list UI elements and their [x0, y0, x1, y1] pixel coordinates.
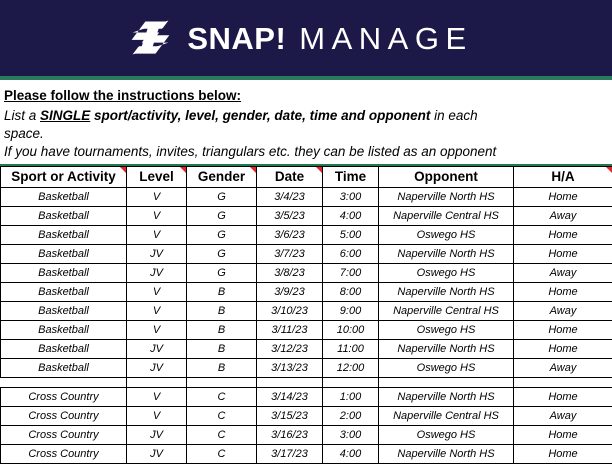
- app-header-banner: SNAP! MANAGE: [0, 0, 612, 76]
- comment-marker-icon: [250, 167, 256, 173]
- table-cell-h-a[interactable]: Away: [514, 406, 612, 425]
- table-cell-gender[interactable]: C: [187, 444, 257, 463]
- table-cell-sport-or-activity[interactable]: Basketball: [1, 320, 127, 339]
- table-cell-sport-or-activity[interactable]: Basketball: [1, 263, 127, 282]
- table-cell-time[interactable]: 2:00: [323, 406, 379, 425]
- table-cell-h-a[interactable]: Home: [514, 339, 612, 358]
- table-cell-gender[interactable]: G: [187, 244, 257, 263]
- table-cell-level[interactable]: V: [127, 225, 187, 244]
- column-header-ha-label: H/A: [551, 169, 574, 184]
- table-cell-h-a[interactable]: Home: [514, 187, 612, 206]
- table-cell-time[interactable]: 12:00: [323, 358, 379, 377]
- column-header-sport[interactable]: Sport or Activity: [1, 166, 127, 187]
- table-cell-sport-or-activity[interactable]: Cross Country: [1, 406, 127, 425]
- table-cell-opponent[interactable]: Naperville Central HS: [379, 406, 514, 425]
- table-cell-gender[interactable]: G: [187, 263, 257, 282]
- table-cell-gender[interactable]: B: [187, 358, 257, 377]
- table-spacer-cell: [514, 377, 612, 387]
- schedule-table-body: BasketballVG3/4/233:00Naperville North H…: [1, 187, 612, 463]
- table-spacer-cell: [257, 377, 323, 387]
- instructions-block: Please follow the instructions below: Li…: [0, 80, 612, 162]
- table-cell-time[interactable]: 10:00: [323, 320, 379, 339]
- schedule-table: Sport or Activity Level Gender Date Time…: [0, 166, 612, 464]
- table-cell-opponent[interactable]: Oswego HS: [379, 225, 514, 244]
- table-cell-opponent[interactable]: Naperville North HS: [379, 187, 514, 206]
- column-header-opponent[interactable]: Opponent: [379, 166, 514, 187]
- table-cell-date[interactable]: 3/16/23: [257, 425, 323, 444]
- table-cell-time[interactable]: 8:00: [323, 282, 379, 301]
- table-cell-level[interactable]: V: [127, 406, 187, 425]
- table-cell-date[interactable]: 3/13/23: [257, 358, 323, 377]
- column-header-gender[interactable]: Gender: [187, 166, 257, 187]
- table-cell-sport-or-activity[interactable]: Basketball: [1, 206, 127, 225]
- table-cell-date[interactable]: 3/10/23: [257, 301, 323, 320]
- table-cell-time[interactable]: 11:00: [323, 339, 379, 358]
- table-cell-level[interactable]: V: [127, 206, 187, 225]
- table-cell-date[interactable]: 3/15/23: [257, 406, 323, 425]
- table-cell-h-a[interactable]: Away: [514, 301, 612, 320]
- brand-wordmark: SNAP! MANAGE: [187, 23, 472, 54]
- table-cell-date[interactable]: 3/14/23: [257, 387, 323, 406]
- table-spacer-cell: [1, 377, 127, 387]
- table-cell-opponent[interactable]: Naperville North HS: [379, 339, 514, 358]
- column-header-date-label: Date: [275, 169, 304, 184]
- table-cell-date[interactable]: 3/5/23: [257, 206, 323, 225]
- brand-primary-text: SNAP!: [187, 23, 286, 54]
- instructions-line-2: space.: [4, 125, 608, 143]
- table-cell-level[interactable]: V: [127, 387, 187, 406]
- table-cell-opponent[interactable]: Naperville Central HS: [379, 206, 514, 225]
- table-cell-h-a[interactable]: Home: [514, 244, 612, 263]
- table-cell-time[interactable]: 3:00: [323, 425, 379, 444]
- table-cell-opponent[interactable]: Naperville North HS: [379, 387, 514, 406]
- table-cell-opponent[interactable]: Oswego HS: [379, 263, 514, 282]
- table-cell-gender[interactable]: B: [187, 320, 257, 339]
- instructions-line1-part-a: List a: [4, 108, 40, 123]
- table-cell-time[interactable]: 5:00: [323, 225, 379, 244]
- table-cell-level[interactable]: V: [127, 301, 187, 320]
- table-spacer-row: [1, 377, 612, 387]
- table-spacer-cell: [187, 377, 257, 387]
- table-cell-h-a[interactable]: Away: [514, 206, 612, 225]
- table-cell-date[interactable]: 3/4/23: [257, 187, 323, 206]
- instructions-line-1: List a SINGLE sport/activity, level, gen…: [4, 106, 608, 126]
- table-cell-gender[interactable]: G: [187, 225, 257, 244]
- table-cell-time[interactable]: 6:00: [323, 244, 379, 263]
- table-cell-sport-or-activity[interactable]: Basketball: [1, 301, 127, 320]
- table-cell-gender[interactable]: G: [187, 206, 257, 225]
- table-cell-level[interactable]: JV: [127, 339, 187, 358]
- table-cell-gender[interactable]: B: [187, 282, 257, 301]
- table-cell-sport-or-activity[interactable]: Cross Country: [1, 387, 127, 406]
- table-row[interactable]: Cross CountryJVC3/17/234:00Naperville No…: [1, 444, 612, 463]
- column-header-opponent-label: Opponent: [414, 169, 478, 184]
- table-cell-gender[interactable]: G: [187, 187, 257, 206]
- column-header-ha[interactable]: H/A: [514, 166, 612, 187]
- table-cell-time[interactable]: 3:00: [323, 187, 379, 206]
- table-cell-time[interactable]: 4:00: [323, 206, 379, 225]
- table-cell-opponent[interactable]: Oswego HS: [379, 320, 514, 339]
- table-cell-time[interactable]: 4:00: [323, 444, 379, 463]
- comment-marker-icon: [120, 167, 126, 173]
- column-header-level-label: Level: [139, 169, 174, 184]
- table-cell-date[interactable]: 3/7/23: [257, 244, 323, 263]
- column-header-time[interactable]: Time: [323, 166, 379, 187]
- instructions-line-3: If you have tournaments, invites, triang…: [4, 143, 608, 161]
- table-cell-sport-or-activity[interactable]: Basketball: [1, 187, 127, 206]
- table-cell-opponent[interactable]: Naperville North HS: [379, 244, 514, 263]
- column-header-sport-label: Sport or Activity: [11, 169, 116, 184]
- column-header-time-label: Time: [335, 169, 366, 184]
- table-row[interactable]: BasketballVB3/10/239:00Naperville Centra…: [1, 301, 612, 320]
- table-row[interactable]: BasketballJVG3/8/237:00Oswego HSAway: [1, 263, 612, 282]
- table-cell-h-a[interactable]: Home: [514, 225, 612, 244]
- table-cell-level[interactable]: JV: [127, 425, 187, 444]
- table-row[interactable]: BasketballJVB3/12/2311:00Naperville Nort…: [1, 339, 612, 358]
- table-spacer-cell: [379, 377, 514, 387]
- table-spacer-cell: [127, 377, 187, 387]
- table-cell-date[interactable]: 3/8/23: [257, 263, 323, 282]
- table-cell-date[interactable]: 3/9/23: [257, 282, 323, 301]
- table-cell-h-a[interactable]: Home: [514, 444, 612, 463]
- table-cell-h-a[interactable]: Away: [514, 263, 612, 282]
- instructions-line1-part-b: sport/activity, level, gender, date, tim…: [90, 108, 430, 123]
- table-row[interactable]: Cross CountryVC3/14/231:00Naperville Nor…: [1, 387, 612, 406]
- table-cell-date[interactable]: 3/11/23: [257, 320, 323, 339]
- table-cell-level[interactable]: V: [127, 187, 187, 206]
- table-cell-time[interactable]: 1:00: [323, 387, 379, 406]
- table-cell-level[interactable]: V: [127, 320, 187, 339]
- table-row[interactable]: Cross CountryJVC3/16/233:00Oswego HSHome: [1, 425, 612, 444]
- table-spacer-cell: [323, 377, 379, 387]
- comment-marker-icon: [316, 167, 322, 173]
- table-cell-opponent[interactable]: Naperville North HS: [379, 282, 514, 301]
- table-cell-h-a[interactable]: Home: [514, 282, 612, 301]
- instructions-line1-emphasis: SINGLE: [40, 108, 90, 123]
- table-cell-opponent[interactable]: Naperville North HS: [379, 444, 514, 463]
- table-cell-date[interactable]: 3/6/23: [257, 225, 323, 244]
- instructions-line1-part-c: in each: [430, 108, 477, 123]
- table-cell-gender[interactable]: B: [187, 301, 257, 320]
- table-cell-sport-or-activity[interactable]: Cross Country: [1, 425, 127, 444]
- comment-marker-icon: [606, 167, 612, 173]
- table-row[interactable]: BasketballVG3/5/234:00Naperville Central…: [1, 206, 612, 225]
- table-row[interactable]: BasketballJVG3/7/236:00Naperville North …: [1, 244, 612, 263]
- instructions-title: Please follow the instructions below:: [4, 86, 608, 106]
- table-cell-gender[interactable]: B: [187, 339, 257, 358]
- table-cell-level[interactable]: JV: [127, 358, 187, 377]
- table-header-row: Sport or Activity Level Gender Date Time…: [1, 166, 612, 187]
- table-cell-time[interactable]: 9:00: [323, 301, 379, 320]
- brand-lockup: SNAP! MANAGE: [127, 15, 472, 61]
- column-header-level[interactable]: Level: [127, 166, 187, 187]
- table-cell-gender[interactable]: C: [187, 387, 257, 406]
- table-cell-time[interactable]: 7:00: [323, 263, 379, 282]
- table-cell-sport-or-activity[interactable]: Basketball: [1, 244, 127, 263]
- table-cell-sport-or-activity[interactable]: Cross Country: [1, 444, 127, 463]
- column-header-date[interactable]: Date: [257, 166, 323, 187]
- table-cell-sport-or-activity[interactable]: Basketball: [1, 358, 127, 377]
- table-cell-level[interactable]: V: [127, 282, 187, 301]
- comment-marker-icon: [180, 167, 186, 173]
- table-cell-gender[interactable]: C: [187, 406, 257, 425]
- table-cell-level[interactable]: JV: [127, 444, 187, 463]
- table-cell-level[interactable]: JV: [127, 263, 187, 282]
- table-cell-opponent[interactable]: Naperville Central HS: [379, 301, 514, 320]
- table-cell-level[interactable]: JV: [127, 244, 187, 263]
- table-cell-date[interactable]: 3/17/23: [257, 444, 323, 463]
- table-cell-sport-or-activity[interactable]: Basketball: [1, 339, 127, 358]
- table-cell-date[interactable]: 3/12/23: [257, 339, 323, 358]
- table-row[interactable]: BasketballVB3/11/2310:00Oswego HSHome: [1, 320, 612, 339]
- table-row[interactable]: Cross CountryVC3/15/232:00Naperville Cen…: [1, 406, 612, 425]
- table-cell-h-a[interactable]: Home: [514, 425, 612, 444]
- table-cell-h-a[interactable]: Away: [514, 358, 612, 377]
- table-cell-h-a[interactable]: Home: [514, 387, 612, 406]
- table-cell-h-a[interactable]: Home: [514, 320, 612, 339]
- table-cell-opponent[interactable]: Oswego HS: [379, 358, 514, 377]
- table-cell-sport-or-activity[interactable]: Basketball: [1, 282, 127, 301]
- brand-secondary-text: MANAGE: [299, 23, 472, 54]
- table-row[interactable]: BasketballJVB3/13/2312:00Oswego HSAway: [1, 358, 612, 377]
- table-cell-sport-or-activity[interactable]: Basketball: [1, 225, 127, 244]
- column-header-gender-label: Gender: [198, 169, 245, 184]
- snap-s-logo-icon: [127, 15, 173, 61]
- table-cell-opponent[interactable]: Oswego HS: [379, 425, 514, 444]
- table-row[interactable]: BasketballVG3/6/235:00Oswego HSHome: [1, 225, 612, 244]
- table-row[interactable]: BasketballVB3/9/238:00Naperville North H…: [1, 282, 612, 301]
- table-row[interactable]: BasketballVG3/4/233:00Naperville North H…: [1, 187, 612, 206]
- table-cell-gender[interactable]: C: [187, 425, 257, 444]
